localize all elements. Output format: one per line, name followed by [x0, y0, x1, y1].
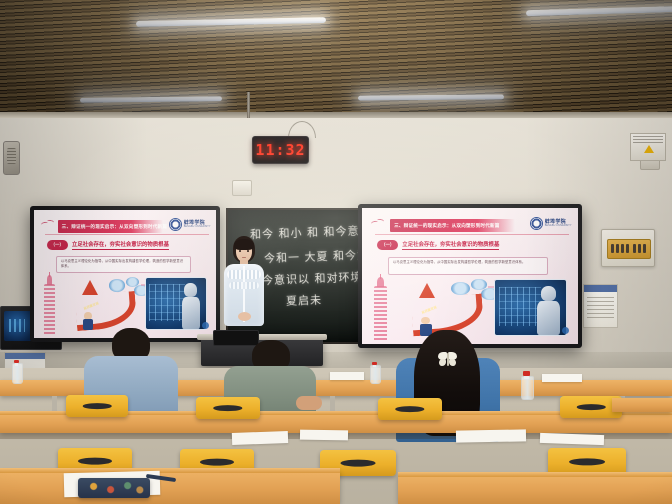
desk-leg [330, 396, 335, 412]
slide-body-box: 以马克思主义理论化为指导，从中国实际出发构建哲学伦理，筑造的哲学新型意识体系。 [388, 257, 548, 275]
presenter [221, 236, 267, 344]
seal-icon [169, 218, 182, 231]
chair-handle-cutout [200, 459, 234, 466]
logo-english-name: BENGBU UNIVERSITY [184, 226, 211, 228]
student-chair[interactable] [66, 395, 128, 417]
desk-front-edge [398, 472, 672, 477]
chair-handle-cutout [78, 458, 112, 465]
slide-corner-badge [202, 322, 209, 329]
paper-stack [330, 372, 364, 380]
presenter-hair [234, 239, 254, 250]
linear-led-tube-1 [136, 17, 326, 27]
presentation-slide-left: 三、辩证统一的现实启示：从双向塑形到时代新篇 蚌埠学院 BENGBU UNIVE… [34, 210, 216, 338]
paper-stack [300, 430, 348, 441]
classroom-photo: 11:32 和今 和小 和 和今意识 今和一 大夏 和今意识 今意识以 和对环境… [0, 0, 672, 504]
butterfly-hair-clip [438, 352, 458, 367]
slide-body-text: 以马克思主义理论化为指导，从中国实际出发构建哲学伦理，筑造的哲学新型意识体系。 [393, 260, 543, 265]
warning-label-box [630, 133, 666, 161]
university-seal: 蚌埠学院 BENGBU UNIVERSITY [530, 216, 572, 231]
notice-poster [583, 284, 618, 328]
side-desk [612, 398, 672, 412]
paper-stack [232, 431, 288, 445]
pagoda-tower-illustration [366, 277, 394, 340]
flying-birds-decoration [371, 219, 388, 229]
slide-deck-title: 三、辩证统一的现实启示：从双向塑形到时代新篇 [58, 224, 167, 230]
water-bottle [370, 362, 379, 384]
slide-section-row: （一） 立足社会存在，夯实社会意识的物质根基 [377, 238, 550, 252]
digital-wall-clock: 11:32 [252, 136, 309, 164]
university-seal: 蚌埠学院 BENGBU UNIVERSITY [169, 218, 211, 232]
desk-leg [52, 396, 57, 412]
logo-english-name: BENGBU UNIVERSITY [545, 225, 572, 227]
pagoda-tower-illustration [38, 275, 62, 334]
wall-speaker [3, 141, 20, 175]
slide-title-bar: 三、辩证统一的现实启示：从双向塑形到时代新篇 [390, 219, 515, 233]
ai-robot-photo [145, 277, 207, 330]
motion-sensor-box [232, 180, 252, 196]
slide-section-heading: 立足社会存在，夯实社会意识的物质根基 [72, 240, 169, 250]
linear-led-tube-2 [526, 6, 672, 16]
chair-handle-cutout [577, 404, 606, 410]
chair-handle-cutout [569, 458, 605, 465]
chalk-line-4: 夏启未 [286, 291, 323, 308]
attendee-arm [296, 396, 322, 410]
chalk-line-1: 和今 和小 和 和今意识 [250, 222, 372, 242]
linear-led-tube-4 [358, 94, 504, 100]
slide-body-box: 以马克思主义理论化为指导，从中国实际出发构建哲学伦理，筑造的哲学新型意识体系。 [56, 256, 191, 273]
display-right[interactable]: 三、辩证统一的现实启示：从双向塑形到时代新篇 蚌埠学院 BENGBU UNIVE… [358, 204, 582, 348]
ai-robot-photo [494, 279, 567, 335]
slide-deck-title: 三、辩证统一的现实启示：从双向塑形到时代新篇 [390, 223, 499, 229]
electrical-distribution-panel[interactable] [601, 229, 655, 267]
slide-section-row: （一） 立足社会存在，夯实社会意识的物质根基 [47, 238, 193, 251]
water-bottle [12, 360, 21, 384]
slide-section-heading: 立足社会存在，夯实社会意识的物质根基 [402, 240, 499, 250]
pencil-case [78, 478, 150, 498]
flying-birds-decoration [41, 220, 56, 229]
student-chair[interactable] [378, 398, 442, 420]
paper-stack [542, 374, 582, 382]
chair-handle-cutout [395, 406, 424, 412]
water-bottle [521, 372, 532, 400]
slide-section-badge: （一） [47, 240, 68, 250]
chair-handle-cutout [83, 403, 112, 409]
slide-body-text: 以马克思主义理论化为指导，从中国实际出发构建哲学伦理，筑造的哲学新型意识体系。 [61, 259, 186, 269]
seal-icon [530, 217, 543, 230]
breaker-row [607, 239, 651, 259]
warning-triangle-icon [644, 145, 654, 153]
student-desk-row [0, 470, 340, 504]
chair-handle-cutout [213, 405, 242, 411]
presentation-slide-right: 三、辩证统一的现实启示：从双向塑形到时代新篇 蚌埠学院 BENGBU UNIVE… [362, 208, 578, 344]
chair-handle-cutout [341, 460, 376, 467]
student-desk-row [398, 474, 672, 504]
display-left[interactable]: 三、辩证统一的现实启示：从双向塑形到时代新篇 蚌埠学院 BENGBU UNIVE… [30, 206, 220, 342]
slide-section-badge: （一） [377, 240, 398, 250]
slide-corner-badge [562, 327, 569, 334]
presenter-hands [238, 312, 251, 321]
wooden-slat-ceiling [0, 0, 672, 118]
slide-title-bar: 三、辩证统一的现实启示：从双向塑形到时代新篇 [58, 220, 164, 233]
linear-led-tube-3 [80, 96, 222, 102]
student-chair[interactable] [196, 397, 260, 419]
paper-stack [456, 429, 526, 442]
desk-front-edge [0, 468, 340, 473]
clock-time: 11:32 [255, 141, 305, 159]
